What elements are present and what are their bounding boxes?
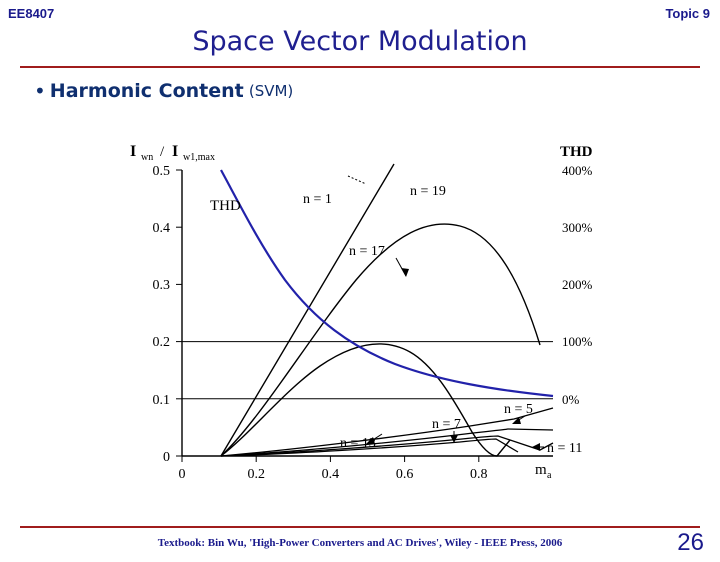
annotation-n19: n = 19 <box>410 184 446 199</box>
harmonic-content-chart: 0 0.1 0.2 0.3 0.4 0.5 0 0.2 0.4 0.6 0.8 … <box>110 140 610 490</box>
annotation-n13: n = 13 <box>340 436 376 451</box>
y-tick-left-1: 0.1 <box>153 393 171 408</box>
y-axis-right-title: THD <box>560 144 593 160</box>
x-axis-title-m: m <box>535 462 547 478</box>
divider-top <box>20 66 700 68</box>
x-tick-4: 0.8 <box>470 467 488 482</box>
annotation-n1: n = 1 <box>303 192 332 207</box>
annotation-n7: n = 7 <box>432 417 461 432</box>
curve-thd <box>221 170 553 396</box>
y-axis-left-title-slash: / <box>160 144 165 160</box>
x-axis-title-sub: a <box>547 470 552 481</box>
y-axis-left-title-sub1: wn <box>141 152 153 163</box>
y-axis-left-title-sub2: w1,max <box>183 152 215 163</box>
annotation-n17: n = 17 <box>349 244 385 259</box>
arrow-n17 <box>401 268 409 277</box>
y-axis-left-title-I1: I <box>130 143 136 160</box>
y-axis-left-title-I2: I <box>172 143 178 160</box>
y-tick-left-5: 0.5 <box>153 164 171 179</box>
page-title: Space Vector Modulation <box>0 26 720 57</box>
footer-reference: Textbook: Bin Wu, 'High-Power Converters… <box>0 537 720 549</box>
arrow-n11 <box>532 443 540 451</box>
leader-n1 <box>348 176 366 184</box>
x-tick-2: 0.4 <box>322 467 340 482</box>
bullet-sub-text: (SVM) <box>249 82 293 100</box>
y-tick-left-2: 0.2 <box>153 335 171 350</box>
annotation-n5: n = 5 <box>504 402 533 417</box>
bullet-dot-icon: • <box>34 79 46 103</box>
x-tick-0: 0 <box>179 467 186 482</box>
y-tick-left-4: 0.4 <box>153 221 171 236</box>
y-tick-right-300: 300% <box>562 220 593 235</box>
divider-bottom <box>20 526 700 528</box>
x-axis-title: m a <box>535 462 552 481</box>
bullet-item: •Harmonic Content (SVM) <box>34 79 293 103</box>
curve-n11 <box>221 436 553 456</box>
y-tick-right-100: 100% <box>562 334 593 349</box>
x-tick-1: 0.2 <box>247 467 265 482</box>
curve-n1 <box>221 164 394 456</box>
topic-label: Topic 9 <box>665 6 710 21</box>
y-tick-right-400: 400% <box>562 163 593 178</box>
y-axis-left-title: I wn / I w1,max <box>130 143 215 163</box>
annotation-thd: THD <box>210 198 241 214</box>
bullet-main-text: Harmonic Content <box>50 80 244 102</box>
x-tick-3: 0.6 <box>396 467 414 482</box>
y-tick-left-0: 0 <box>163 450 170 465</box>
y-tick-right-0: 0% <box>562 392 580 407</box>
annotation-n11: n = 11 <box>547 441 582 456</box>
y-tick-left-3: 0.3 <box>153 278 171 293</box>
course-code: EE8407 <box>8 6 54 21</box>
y-tick-right-200: 200% <box>562 277 593 292</box>
page-number: 26 <box>677 529 704 557</box>
